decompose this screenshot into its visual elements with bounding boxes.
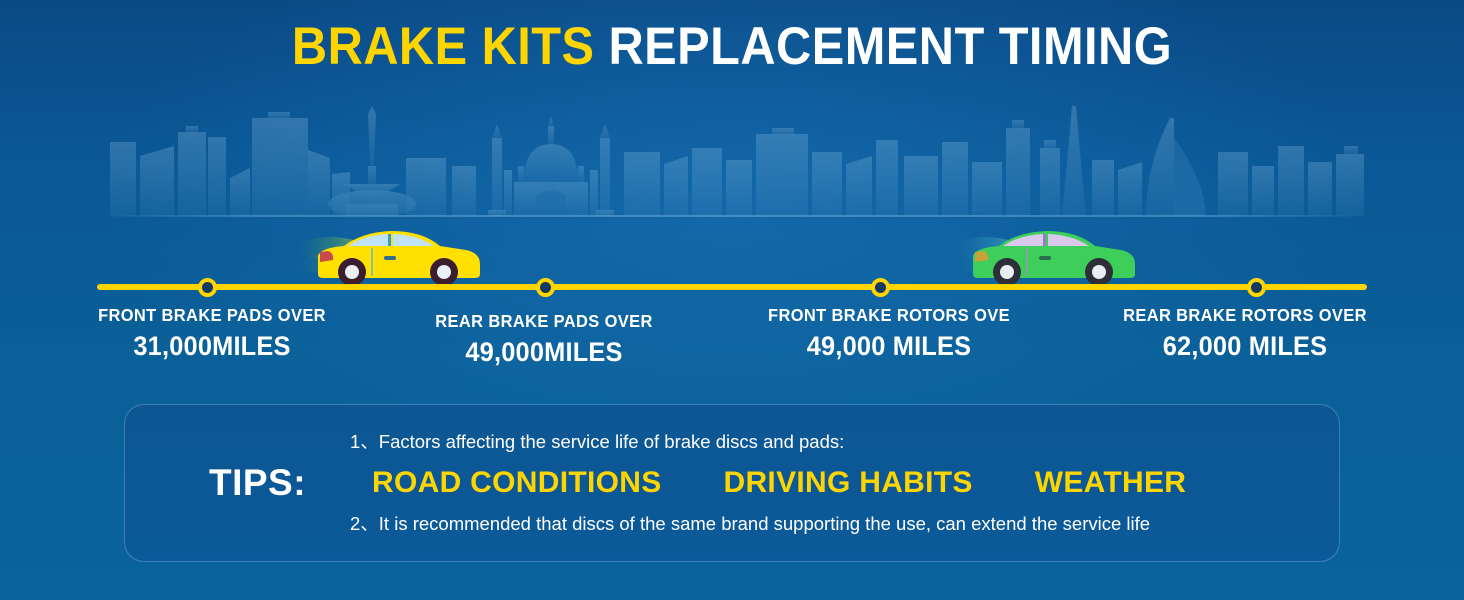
infographic-canvas: BRAKE KITS REPLACEMENT TIMING bbox=[0, 0, 1464, 600]
tips-keyword-driving-habits: DRIVING HABITS bbox=[724, 466, 973, 500]
milestone-rear-brake-pads: REAR BRAKE PADS OVER 49,000MILES bbox=[428, 311, 659, 370]
milestone-caption: REAR BRAKE ROTORS OVER bbox=[1123, 305, 1367, 327]
timeline-dot-3 bbox=[871, 278, 890, 297]
city-skyline-illustration bbox=[100, 104, 1364, 216]
tips-panel: TIPS: 1、Factors affecting the service li… bbox=[124, 404, 1340, 562]
milestone-caption: FRONT BRAKE ROTORS OVE bbox=[768, 305, 1010, 327]
timeline-dot-2 bbox=[536, 278, 555, 297]
timeline-dot-4 bbox=[1247, 278, 1266, 297]
tips-label: TIPS: bbox=[165, 405, 350, 561]
title-plain: REPLACEMENT TIMING bbox=[594, 17, 1172, 76]
tips-line-2: 2、It is recommended that discs of the sa… bbox=[350, 513, 1321, 535]
tips-keyword-road-conditions: ROAD CONDITIONS bbox=[372, 466, 662, 500]
milestone-front-brake-rotors: FRONT BRAKE ROTORS OVE 49,000 MILES bbox=[760, 305, 1017, 364]
skyline-divider bbox=[100, 215, 1364, 217]
tips-keyword-list: ROAD CONDITIONS DRIVING HABITS WEATHER bbox=[350, 466, 1321, 500]
milestone-value: 62,000 MILES bbox=[1123, 329, 1367, 364]
yellow-car-icon bbox=[300, 222, 495, 288]
timeline-dot-1 bbox=[198, 278, 217, 297]
timeline-axis bbox=[97, 284, 1367, 290]
milestone-caption: FRONT BRAKE PADS OVER bbox=[98, 305, 326, 327]
tips-line-1: 1、Factors affecting the service life of … bbox=[350, 431, 1321, 453]
tips-content: 1、Factors affecting the service life of … bbox=[350, 405, 1321, 561]
milestone-caption: REAR BRAKE PADS OVER bbox=[435, 311, 652, 333]
milestone-front-brake-pads: FRONT BRAKE PADS OVER 31,000MILES bbox=[91, 305, 333, 364]
milestone-value: 49,000MILES bbox=[435, 335, 652, 370]
page-title: BRAKE KITS REPLACEMENT TIMING bbox=[59, 20, 1406, 73]
green-car-icon bbox=[955, 222, 1150, 288]
title-highlight: BRAKE KITS bbox=[292, 17, 595, 76]
tips-keyword-weather: WEATHER bbox=[1035, 466, 1187, 500]
milestone-rear-brake-rotors: REAR BRAKE ROTORS OVER 62,000 MILES bbox=[1115, 305, 1374, 364]
milestone-value: 31,000MILES bbox=[98, 329, 326, 364]
milestone-value: 49,000 MILES bbox=[768, 329, 1010, 364]
